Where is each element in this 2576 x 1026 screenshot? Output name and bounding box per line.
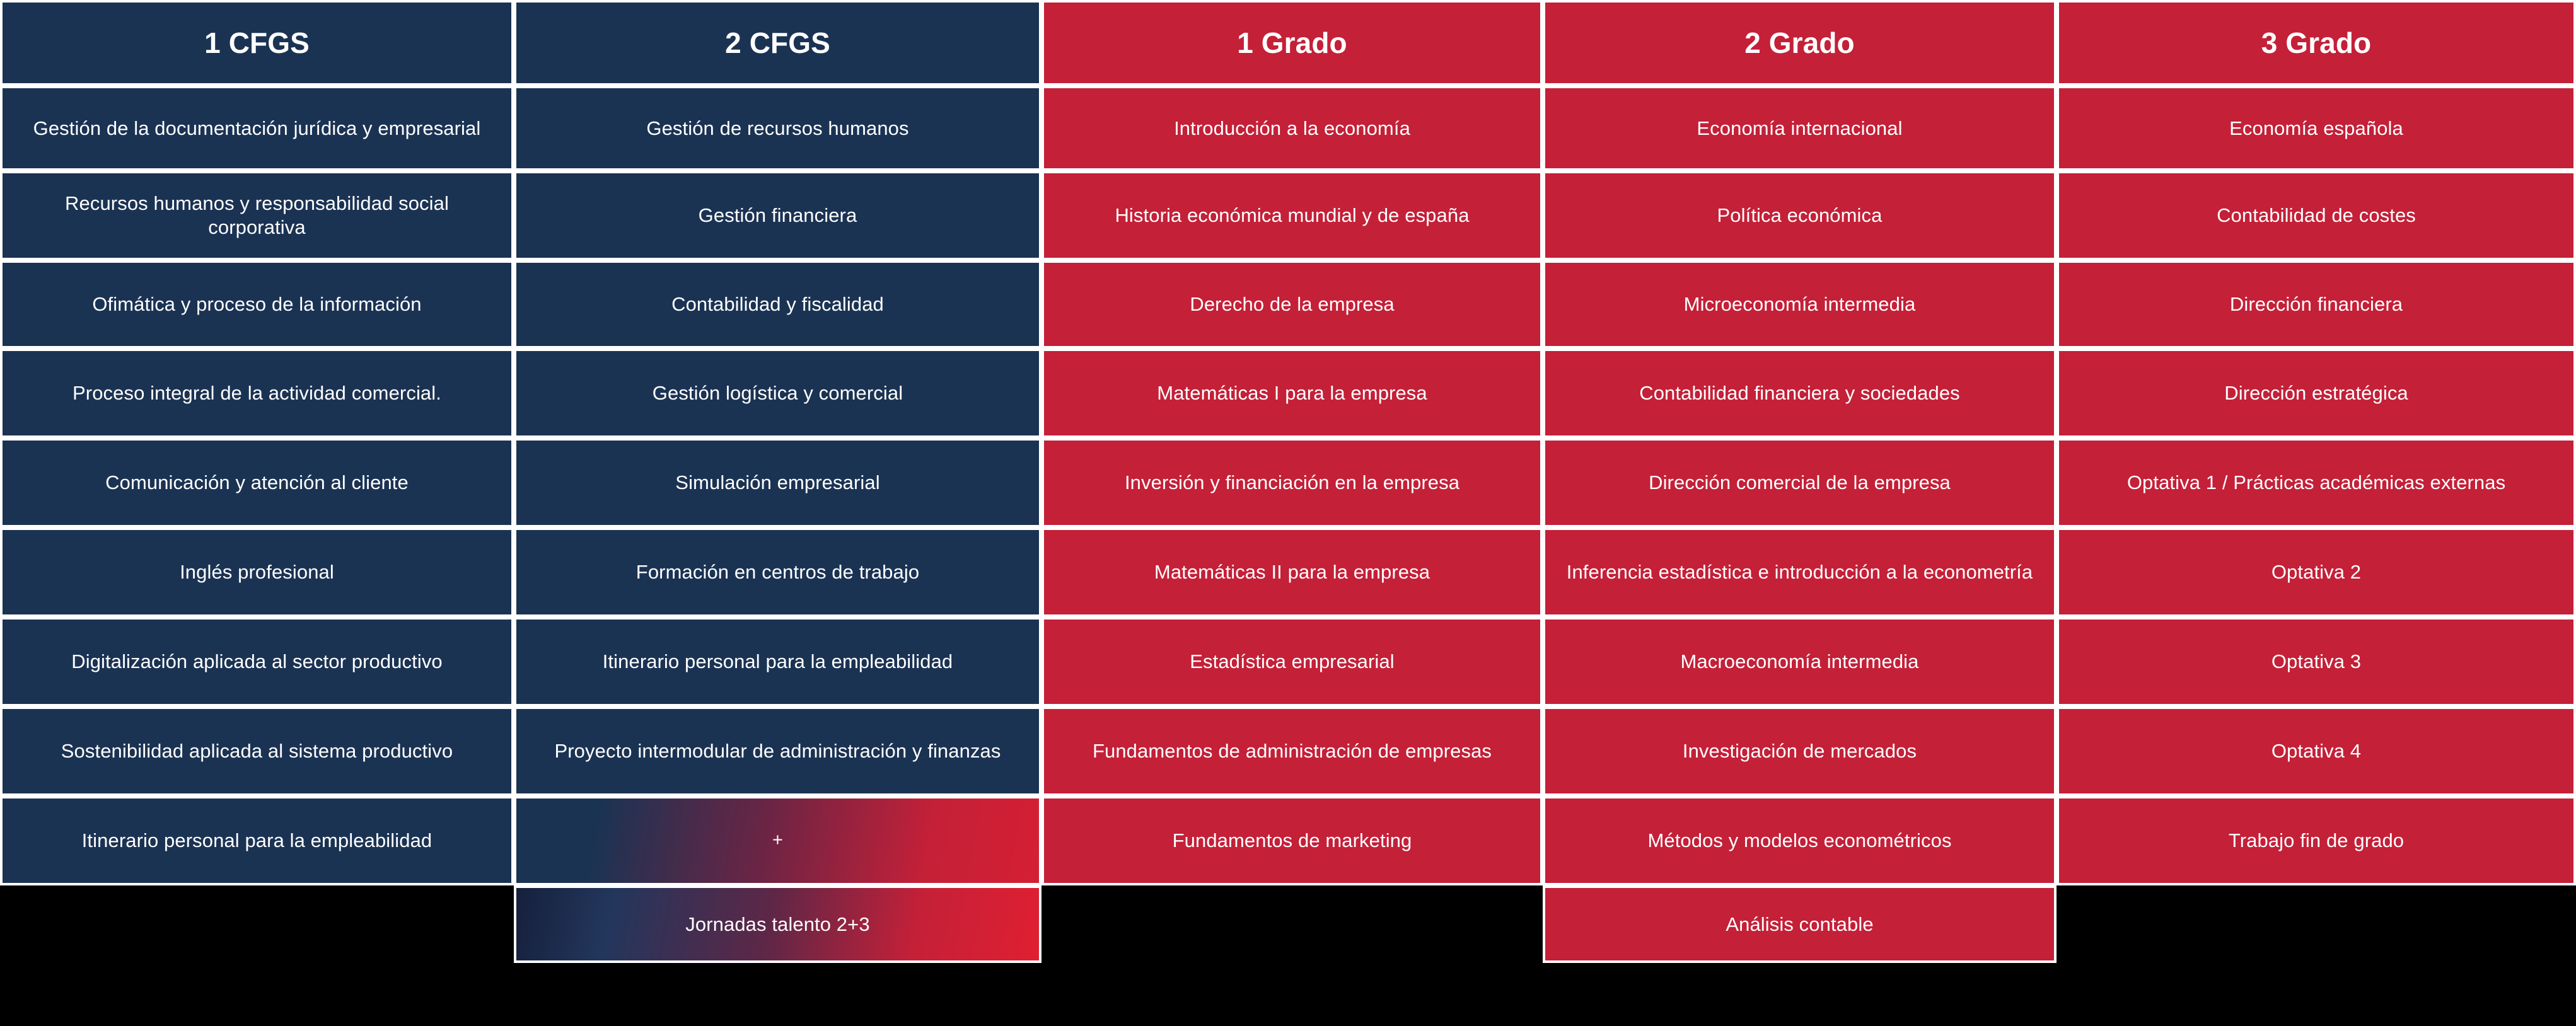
table-cell-empty bbox=[2057, 885, 2576, 963]
table-cell-label: Análisis contable bbox=[1560, 913, 2039, 937]
table-cell-label: Métodos y modelos econométricos bbox=[1560, 829, 2039, 853]
table-cell-label: Recursos humanos y responsabilidad socia… bbox=[18, 192, 496, 239]
table-cell: Contabilidad y fiscalidad bbox=[514, 260, 1041, 349]
table-cell: Dirección estratégica bbox=[2057, 349, 2576, 438]
table-cell-label: Macroeconomía intermedia bbox=[1560, 650, 2039, 674]
table-cell-label: Gestión de la documentación jurídica y e… bbox=[18, 117, 496, 141]
table-cell-label: Simulación empresarial bbox=[531, 471, 1024, 495]
table-cell-label: Inversión y financiación en la empresa bbox=[1059, 471, 1525, 495]
table-cell: Estadística empresarial bbox=[1041, 617, 1543, 706]
column-header-label: 2 Grado bbox=[1560, 25, 2039, 61]
column-header-col-3-grado: 3 Grado bbox=[2057, 0, 2576, 86]
column-header-label: 3 Grado bbox=[2074, 25, 2558, 61]
column-header-label: 2 CFGS bbox=[531, 25, 1024, 61]
table-cell-label: Economía internacional bbox=[1560, 117, 2039, 141]
table-cell-label: Digitalización aplicada al sector produc… bbox=[18, 650, 496, 674]
table-cell: Inversión y financiación en la empresa bbox=[1041, 438, 1543, 527]
table-cell-label: Itinerario personal para la empleabilida… bbox=[18, 829, 496, 853]
table-cell: Ofimática y proceso de la información bbox=[0, 260, 514, 349]
table-cell-label: Introducción a la economía bbox=[1059, 117, 1525, 141]
table-cell: Inglés profesional bbox=[0, 527, 514, 617]
table-cell-label: Inferencia estadística e introducción a … bbox=[1560, 560, 2039, 584]
table-cell: Investigación de mercados bbox=[1543, 706, 2057, 796]
table-cell: Optativa 4 bbox=[2057, 706, 2576, 796]
table-cell-label: Fundamentos de administración de empresa… bbox=[1059, 739, 1525, 763]
table-cell-label: Trabajo fin de grado bbox=[2074, 829, 2558, 853]
column-header-label: 1 Grado bbox=[1059, 25, 1525, 61]
table-cell: Optativa 1 / Prácticas académicas extern… bbox=[2057, 438, 2576, 527]
curriculum-table: 1 CFGS2 CFGS1 Grado2 Grado3 GradoGestión… bbox=[0, 0, 2576, 1026]
table-cell-label: Investigación de mercados bbox=[1560, 739, 2039, 763]
column-header-label: 1 CFGS bbox=[18, 25, 496, 61]
table-cell-label: Dirección comercial de la empresa bbox=[1560, 471, 2039, 495]
table-cell: Gestión financiera bbox=[514, 171, 1041, 260]
table-cell: Gestión de la documentación jurídica y e… bbox=[0, 86, 514, 171]
table-cell: Dirección financiera bbox=[2057, 260, 2576, 349]
table-cell: Introducción a la economía bbox=[1041, 86, 1543, 171]
table-cell: Optativa 2 bbox=[2057, 527, 2576, 617]
table-cell: Política económica bbox=[1543, 171, 2057, 260]
table-cell-label: Proyecto intermodular de administración … bbox=[531, 739, 1024, 763]
table-cell-label: Matemáticas II para la empresa bbox=[1059, 560, 1525, 584]
table-cell-label: Gestión de recursos humanos bbox=[531, 117, 1024, 141]
table-cell-label: Optativa 3 bbox=[2074, 650, 2558, 674]
table-cell-label: Optativa 1 / Prácticas académicas extern… bbox=[2074, 471, 2558, 495]
table-cell-label: Formación en centros de trabajo bbox=[531, 560, 1024, 584]
table-cell-label: Política económica bbox=[1560, 204, 2039, 228]
table-cell: Métodos y modelos econométricos bbox=[1543, 796, 2057, 885]
table-cell: Matemáticas I para la empresa bbox=[1041, 349, 1543, 438]
table-cell-label: Jornadas talento 2+3 bbox=[531, 913, 1024, 937]
table-cell: Comunicación y atención al cliente bbox=[0, 438, 514, 527]
table-cell-label: Ofimática y proceso de la información bbox=[18, 292, 496, 316]
table-cell: Derecho de la empresa bbox=[1041, 260, 1543, 349]
table-cell-label: Comunicación y atención al cliente bbox=[18, 471, 496, 495]
table-cell: Matemáticas II para la empresa bbox=[1041, 527, 1543, 617]
table-cell-label: Proceso integral de la actividad comerci… bbox=[18, 381, 496, 405]
table-cell: Inferencia estadística e introducción a … bbox=[1543, 527, 2057, 617]
table-cell-label: Gestión financiera bbox=[531, 204, 1024, 228]
table-cell: Trabajo fin de grado bbox=[2057, 796, 2576, 885]
table-cell-label: Derecho de la empresa bbox=[1059, 292, 1525, 316]
table-cell: Simulación empresarial bbox=[514, 438, 1041, 527]
table-cell-label: Contabilidad de costes bbox=[2074, 204, 2558, 228]
table-cell: Gestión logística y comercial bbox=[514, 349, 1041, 438]
table-cell-label: Contabilidad y fiscalidad bbox=[531, 292, 1024, 316]
table-cell: Itinerario personal para la empleabilida… bbox=[514, 617, 1041, 706]
table-cell: Fundamentos de marketing bbox=[1041, 796, 1543, 885]
table-cell-label: + bbox=[531, 829, 1024, 851]
table-cell-label: Fundamentos de marketing bbox=[1059, 829, 1525, 853]
table-cell-label: Matemáticas I para la empresa bbox=[1059, 381, 1525, 405]
table-cell: Historia económica mundial y de españa bbox=[1041, 171, 1543, 260]
column-header-col-2-grado: 2 Grado bbox=[1543, 0, 2057, 86]
column-header-col-1-cfgs: 1 CFGS bbox=[0, 0, 514, 86]
table-cell: Proceso integral de la actividad comerci… bbox=[0, 349, 514, 438]
table-cell: Economía internacional bbox=[1543, 86, 2057, 171]
table-cell-label: Historia económica mundial y de españa bbox=[1059, 204, 1525, 228]
table-cell-label: Optativa 4 bbox=[2074, 739, 2558, 763]
table-cell: Formación en centros de trabajo bbox=[514, 527, 1041, 617]
table-cell: Dirección comercial de la empresa bbox=[1543, 438, 2057, 527]
table-cell-empty bbox=[1041, 885, 1543, 963]
table-cell: Jornadas talento 2+3 bbox=[514, 885, 1041, 963]
column-header-col-1-grado: 1 Grado bbox=[1041, 0, 1543, 86]
table-cell-label: Economía española bbox=[2074, 117, 2558, 141]
table-cell: Sostenibilidad aplicada al sistema produ… bbox=[0, 706, 514, 796]
table-cell-label: Dirección estratégica bbox=[2074, 381, 2558, 405]
table-cell-label: Itinerario personal para la empleabilida… bbox=[531, 650, 1024, 674]
table-cell-label: Contabilidad financiera y sociedades bbox=[1560, 381, 2039, 405]
table-cell: Contabilidad de costes bbox=[2057, 171, 2576, 260]
table-cell-label: Microeconomía intermedia bbox=[1560, 292, 2039, 316]
table-cell: Economía española bbox=[2057, 86, 2576, 171]
table-cell-label: Estadística empresarial bbox=[1059, 650, 1525, 674]
table-cell: Gestión de recursos humanos bbox=[514, 86, 1041, 171]
table-cell-label: Inglés profesional bbox=[18, 560, 496, 584]
table-cell: Análisis contable bbox=[1543, 885, 2057, 963]
table-cell: Contabilidad financiera y sociedades bbox=[1543, 349, 2057, 438]
table-cell: Recursos humanos y responsabilidad socia… bbox=[0, 171, 514, 260]
column-header-col-2-cfgs: 2 CFGS bbox=[514, 0, 1041, 86]
table-cell: Proyecto intermodular de administración … bbox=[514, 706, 1041, 796]
table-cell: Microeconomía intermedia bbox=[1543, 260, 2057, 349]
table-cell-label: Sostenibilidad aplicada al sistema produ… bbox=[18, 739, 496, 763]
table-cell: Macroeconomía intermedia bbox=[1543, 617, 2057, 706]
table-cell-label: Optativa 2 bbox=[2074, 560, 2558, 584]
table-cell: + bbox=[514, 796, 1041, 885]
table-cell: Optativa 3 bbox=[2057, 617, 2576, 706]
table-cell-label: Dirección financiera bbox=[2074, 292, 2558, 316]
table-cell: Fundamentos de administración de empresa… bbox=[1041, 706, 1543, 796]
table-cell: Itinerario personal para la empleabilida… bbox=[0, 796, 514, 885]
table-cell: Digitalización aplicada al sector produc… bbox=[0, 617, 514, 706]
table-cell-empty bbox=[0, 885, 514, 963]
table-cell-label: Gestión logística y comercial bbox=[531, 381, 1024, 405]
